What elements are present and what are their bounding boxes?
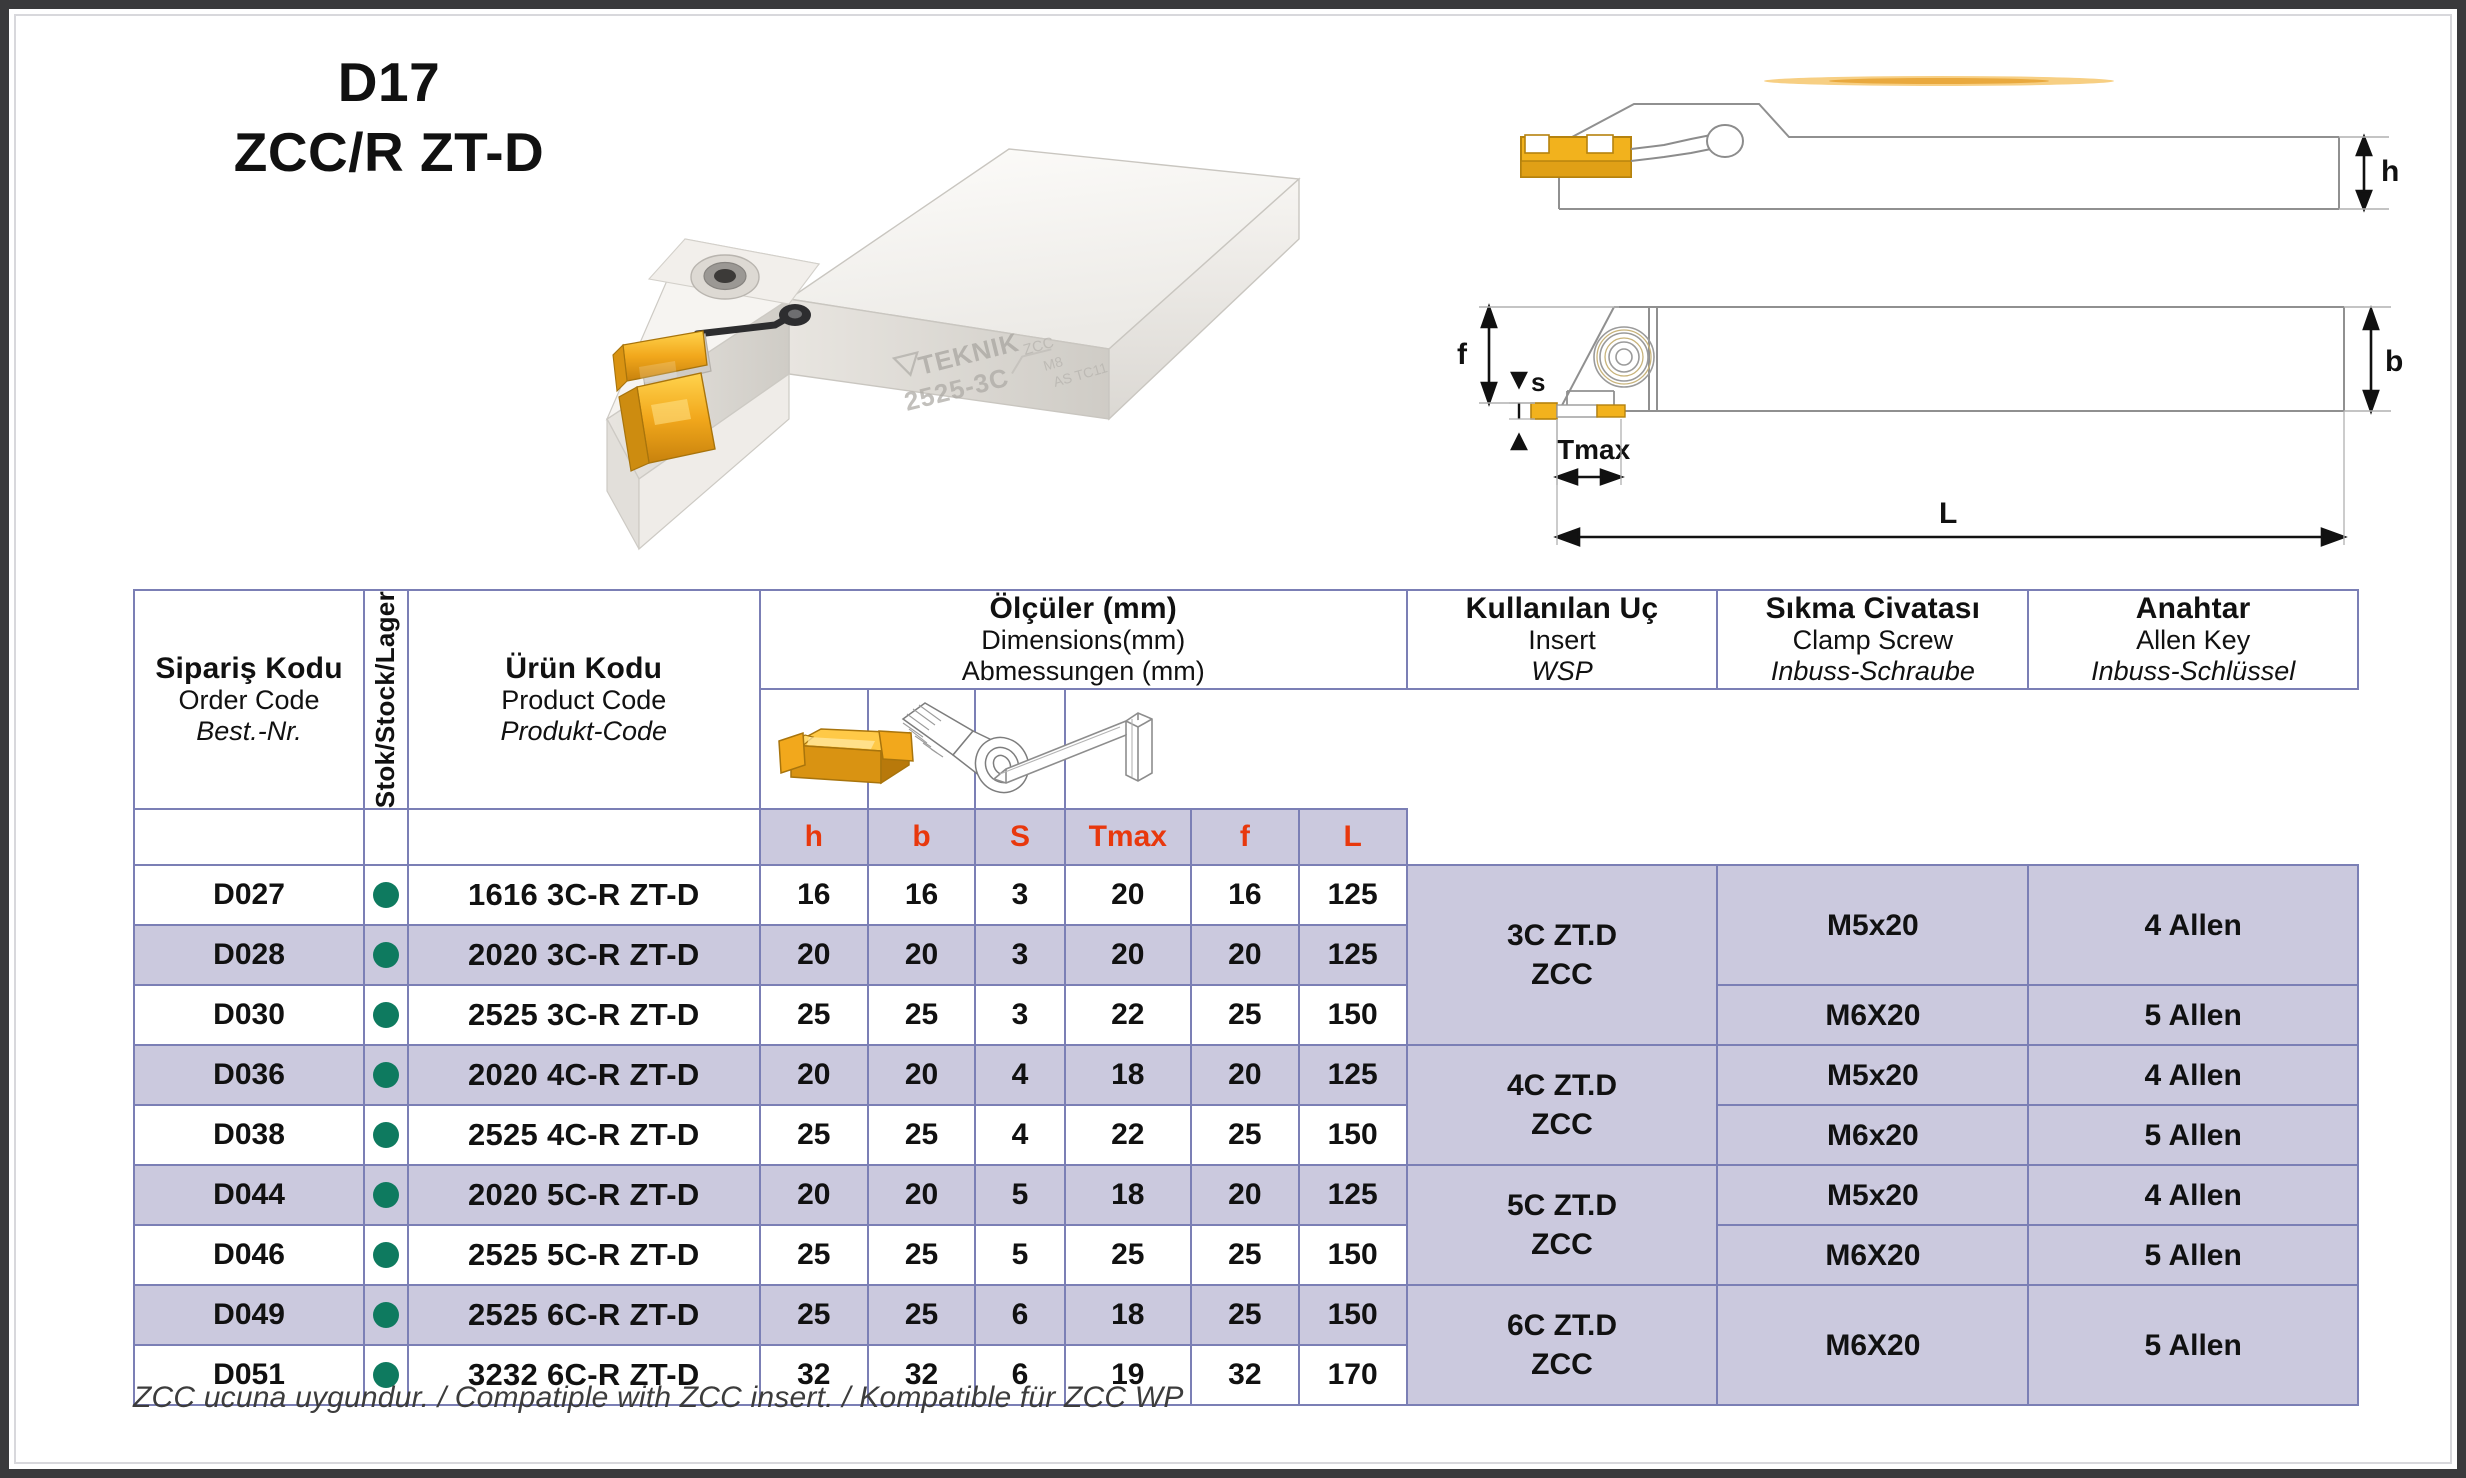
cell-dim-L: 150 xyxy=(1299,1105,1407,1165)
cell-product-code: 2020 3C-R ZT-D xyxy=(408,925,760,985)
cell-dim-b: 25 xyxy=(868,985,976,1045)
cell-clamp-screw: M6X20 xyxy=(1717,1285,2028,1405)
header-product-code-en: Product Code xyxy=(409,685,759,716)
cell-clamp-screw: M5x20 xyxy=(1717,1045,2028,1105)
subheader-spacer-key xyxy=(2028,809,2358,865)
cell-allen-key: 5 Allen xyxy=(2028,1105,2358,1165)
subheader-spacer-order xyxy=(134,809,364,865)
header-clamp-screw-de: Inbuss-Schraube xyxy=(1718,656,2027,687)
cell-dim-s: 6 xyxy=(975,1285,1064,1345)
cell-clamp-screw: M5x20 xyxy=(1717,865,2028,985)
cell-product-code: 2525 5C-R ZT-D xyxy=(408,1225,760,1285)
cell-dim-b: 25 xyxy=(868,1285,976,1345)
cell-dim-h: 20 xyxy=(760,925,868,985)
subheader-spacer-screw xyxy=(1717,809,2028,865)
product-photo: TEKNIK 2525-3C ZCC M8 AS TC11 xyxy=(489,119,1309,579)
cell-dim-h: 20 xyxy=(760,1165,868,1225)
stock-dot-icon xyxy=(373,1182,399,1208)
cell-insert-line2: ZCC xyxy=(1408,1225,1717,1264)
cell-stock-indicator xyxy=(364,1285,408,1345)
cell-dim-h: 16 xyxy=(760,865,868,925)
cell-dim-L: 150 xyxy=(1299,1225,1407,1285)
subheader-f-label: f xyxy=(1240,820,1250,853)
stock-dot-icon xyxy=(373,882,399,908)
cell-dim-tmax: 25 xyxy=(1065,1225,1191,1285)
dimension-label-h: h xyxy=(2381,155,2399,188)
cell-insert: 4C ZT.DZCC xyxy=(1407,1045,1718,1165)
table-body: D0271616 3C-R ZT-D1616320161253C ZT.DZCC… xyxy=(134,865,2358,1405)
cell-dim-s: 4 xyxy=(975,1105,1064,1165)
cell-allen-key: 4 Allen xyxy=(2028,1165,2358,1225)
cell-dim-s: 5 xyxy=(975,1165,1064,1225)
subheader-spacer-stock xyxy=(364,809,408,865)
subheader-tmax-label: Tmax xyxy=(1089,820,1167,853)
cell-insert-line2: ZCC xyxy=(1408,1105,1717,1144)
dimension-label-tmax: Tmax xyxy=(1557,434,1631,465)
header-allen-key-tr: Anahtar xyxy=(2029,592,2357,626)
header-dimensions-tr: Ölçüler (mm) xyxy=(761,592,1406,626)
drawing-side-view: h xyxy=(1459,49,2399,279)
cell-stock-indicator xyxy=(364,985,408,1045)
cell-dim-h: 25 xyxy=(760,985,868,1045)
header-product-code-tr: Ürün Kodu xyxy=(409,652,759,686)
insert-picture xyxy=(760,689,868,809)
header-insert-de: WSP xyxy=(1408,656,1717,687)
header-order-code: Sipariş Kodu Order Code Best.-Nr. xyxy=(134,590,364,809)
cell-insert-line2: ZCC xyxy=(1408,955,1717,994)
header-product-code-de: Produkt-Code xyxy=(409,716,759,747)
cell-product-code: 2525 6C-R ZT-D xyxy=(408,1285,760,1345)
cell-insert-line1: 4C ZT.D xyxy=(1408,1066,1717,1105)
stock-dot-icon xyxy=(373,942,399,968)
dimension-label-f: f xyxy=(1457,338,1468,371)
table-header-row-main: Sipariş Kodu Order Code Best.-Nr. Stok/S… xyxy=(134,590,2358,689)
cell-order-code: D044 xyxy=(134,1165,364,1225)
cell-dim-s: 3 xyxy=(975,985,1064,1045)
table-row: D0492525 6C-R ZT-D2525618251506C ZT.DZCC… xyxy=(134,1285,2358,1345)
cell-allen-key: 5 Allen xyxy=(2028,1285,2358,1405)
cell-insert-line1: 6C ZT.D xyxy=(1408,1306,1717,1345)
cell-dim-s: 5 xyxy=(975,1225,1064,1285)
header-stock-label: Stok/Stock/Lager xyxy=(370,591,401,808)
table-row: D0271616 3C-R ZT-D1616320161253C ZT.DZCC… xyxy=(134,865,2358,925)
specifications-table: Sipariş Kodu Order Code Best.-Nr. Stok/S… xyxy=(133,589,2359,1406)
cell-stock-indicator xyxy=(364,925,408,985)
cell-insert: 5C ZT.DZCC xyxy=(1407,1165,1718,1285)
header-insert-en: Insert xyxy=(1408,625,1717,656)
cell-clamp-screw: M5x20 xyxy=(1717,1165,2028,1225)
cell-stock-indicator xyxy=(364,1165,408,1225)
subheader-tmax: Tmax xyxy=(1065,809,1191,865)
table-subheader-dimensions: h b S Tmax f L xyxy=(134,809,2358,865)
table-row: D0382525 4C-R ZT-D252542225150M6x205 All… xyxy=(134,1105,2358,1165)
cell-dim-tmax: 22 xyxy=(1065,1105,1191,1165)
cell-product-code: 1616 3C-R ZT-D xyxy=(408,865,760,925)
cell-dim-f: 25 xyxy=(1191,985,1299,1045)
subheader-s: S xyxy=(975,809,1064,865)
subheader-s-label: S xyxy=(1010,820,1030,853)
header-dimensions-de: Abmessungen (mm) xyxy=(761,656,1406,687)
cell-dim-h: 25 xyxy=(760,1105,868,1165)
cell-dim-L: 125 xyxy=(1299,1165,1407,1225)
table-row: D0462525 5C-R ZT-D252552525150M6X205 All… xyxy=(134,1225,2358,1285)
subheader-f: f xyxy=(1191,809,1299,865)
cell-product-code: 2020 5C-R ZT-D xyxy=(408,1165,760,1225)
cell-dim-tmax: 18 xyxy=(1065,1045,1191,1105)
cell-product-code: 2525 4C-R ZT-D xyxy=(408,1105,760,1165)
cell-order-code: D027 xyxy=(134,865,364,925)
cell-dim-tmax: 22 xyxy=(1065,985,1191,1045)
subheader-L: L xyxy=(1299,809,1407,865)
header-product-code: Ürün Kodu Product Code Produkt-Code xyxy=(408,590,760,809)
cell-dim-f: 16 xyxy=(1191,865,1299,925)
cell-stock-indicator xyxy=(364,1045,408,1105)
subheader-h: h xyxy=(760,809,868,865)
cell-insert: 6C ZT.DZCC xyxy=(1407,1285,1718,1405)
stock-dot-icon xyxy=(373,1302,399,1328)
cell-clamp-screw: M6X20 xyxy=(1717,985,2028,1045)
subheader-b: b xyxy=(868,809,976,865)
cell-dim-b: 20 xyxy=(868,1165,976,1225)
cell-clamp-screw: M6x20 xyxy=(1717,1105,2028,1165)
cell-dim-h: 25 xyxy=(760,1225,868,1285)
cell-dim-b: 16 xyxy=(868,865,976,925)
cell-order-code: D046 xyxy=(134,1225,364,1285)
cell-dim-b: 20 xyxy=(868,925,976,985)
header-clamp-screw-en: Clamp Screw xyxy=(1718,625,2027,656)
dimension-label-L: L xyxy=(1939,497,1957,530)
cell-dim-tmax: 18 xyxy=(1065,1165,1191,1225)
cell-dim-f: 25 xyxy=(1191,1285,1299,1345)
cell-dim-f: 25 xyxy=(1191,1225,1299,1285)
cell-insert-line1: 5C ZT.D xyxy=(1408,1186,1717,1225)
cell-dim-h: 25 xyxy=(760,1285,868,1345)
stock-dot-icon xyxy=(373,1242,399,1268)
header-dimensions: Ölçüler (mm) Dimensions(mm) Abmessungen … xyxy=(760,590,1407,689)
cell-dim-f: 20 xyxy=(1191,1045,1299,1105)
header-order-code-tr: Sipariş Kodu xyxy=(135,652,363,686)
cell-dim-b: 25 xyxy=(868,1105,976,1165)
cell-dim-f: 32 xyxy=(1191,1345,1299,1405)
cell-dim-b: 20 xyxy=(868,1045,976,1105)
header-clamp-screw-tr: Sıkma Civatası xyxy=(1718,592,2027,626)
table-row: D0302525 3C-R ZT-D252532225150M6X205 All… xyxy=(134,985,2358,1045)
cell-dim-b: 25 xyxy=(868,1225,976,1285)
cell-dim-s: 3 xyxy=(975,865,1064,925)
stock-dot-icon xyxy=(373,1062,399,1088)
header-clamp-screw: Sıkma Civatası Clamp Screw Inbuss-Schrau… xyxy=(1717,590,2028,689)
drawing-top-view: f s Tmax b L xyxy=(1439,279,2409,579)
cell-dim-L: 170 xyxy=(1299,1345,1407,1405)
cell-dim-tmax: 18 xyxy=(1065,1285,1191,1345)
cell-stock-indicator xyxy=(364,1105,408,1165)
cell-product-code: 2525 3C-R ZT-D xyxy=(408,985,760,1045)
cell-allen-key: 5 Allen xyxy=(2028,985,2358,1045)
subheader-spacer-product xyxy=(408,809,760,865)
header-insert-tr: Kullanılan Uç xyxy=(1408,592,1717,626)
subheader-h-label: h xyxy=(805,820,823,853)
subheader-spacer-insert xyxy=(1407,809,1718,865)
cell-dim-f: 25 xyxy=(1191,1105,1299,1165)
header-allen-key: Anahtar Allen Key Inbuss-Schlüssel xyxy=(2028,590,2358,689)
cell-stock-indicator xyxy=(364,865,408,925)
stock-dot-icon xyxy=(373,1002,399,1028)
cell-order-code: D038 xyxy=(134,1105,364,1165)
header-stock: Stok/Stock/Lager xyxy=(364,590,408,809)
cell-dim-L: 125 xyxy=(1299,865,1407,925)
cell-product-code: 2020 4C-R ZT-D xyxy=(408,1045,760,1105)
cell-order-code: D049 xyxy=(134,1285,364,1345)
cell-dim-f: 20 xyxy=(1191,1165,1299,1225)
cell-order-code: D036 xyxy=(134,1045,364,1105)
header-insert: Kullanılan Uç Insert WSP xyxy=(1407,590,1718,689)
header-order-code-en: Order Code xyxy=(135,685,363,716)
cell-clamp-screw: M6X20 xyxy=(1717,1225,2028,1285)
header-dimensions-en: Dimensions(mm) xyxy=(761,625,1406,656)
dimension-label-b: b xyxy=(2385,345,2403,378)
cell-dim-h: 20 xyxy=(760,1045,868,1105)
cell-dim-tmax: 20 xyxy=(1065,865,1191,925)
product-series-code: D17 xyxy=(179,54,599,112)
cell-dim-L: 125 xyxy=(1299,1045,1407,1105)
compatibility-note: ZCC ucuna uygundur. / Compatiple with ZC… xyxy=(133,1381,1184,1415)
table-row: D0442020 5C-R ZT-D2020518201255C ZT.DZCC… xyxy=(134,1165,2358,1225)
cell-dim-L: 125 xyxy=(1299,925,1407,985)
cell-allen-key: 5 Allen xyxy=(2028,1225,2358,1285)
cell-order-code: D028 xyxy=(134,925,364,985)
cell-dim-L: 150 xyxy=(1299,985,1407,1045)
dimension-label-s: s xyxy=(1531,367,1545,397)
stock-dot-icon xyxy=(373,1122,399,1148)
cell-dim-L: 150 xyxy=(1299,1285,1407,1345)
subheader-L-label: L xyxy=(1343,820,1361,853)
cell-insert: 3C ZT.DZCC xyxy=(1407,865,1718,1045)
cell-stock-indicator xyxy=(364,1225,408,1285)
cell-dim-s: 3 xyxy=(975,925,1064,985)
header-order-code-de: Best.-Nr. xyxy=(135,716,363,747)
cell-dim-tmax: 20 xyxy=(1065,925,1191,985)
subheader-b-label: b xyxy=(912,820,930,853)
cell-order-code: D030 xyxy=(134,985,364,1045)
cell-allen-key: 4 Allen xyxy=(2028,1045,2358,1105)
cell-dim-f: 20 xyxy=(1191,925,1299,985)
page-frame: D17 ZCC/R ZT-D xyxy=(0,0,2466,1478)
cell-insert-line2: ZCC xyxy=(1408,1345,1717,1384)
table-row: D0362020 4C-R ZT-D2020418201254C ZT.DZCC… xyxy=(134,1045,2358,1105)
cell-dim-s: 4 xyxy=(975,1045,1064,1105)
header-allen-key-de: Inbuss-Schlüssel xyxy=(2029,656,2357,687)
header-allen-key-en: Allen Key xyxy=(2029,625,2357,656)
cell-insert-line1: 3C ZT.D xyxy=(1408,916,1717,955)
cell-allen-key: 4 Allen xyxy=(2028,865,2358,985)
